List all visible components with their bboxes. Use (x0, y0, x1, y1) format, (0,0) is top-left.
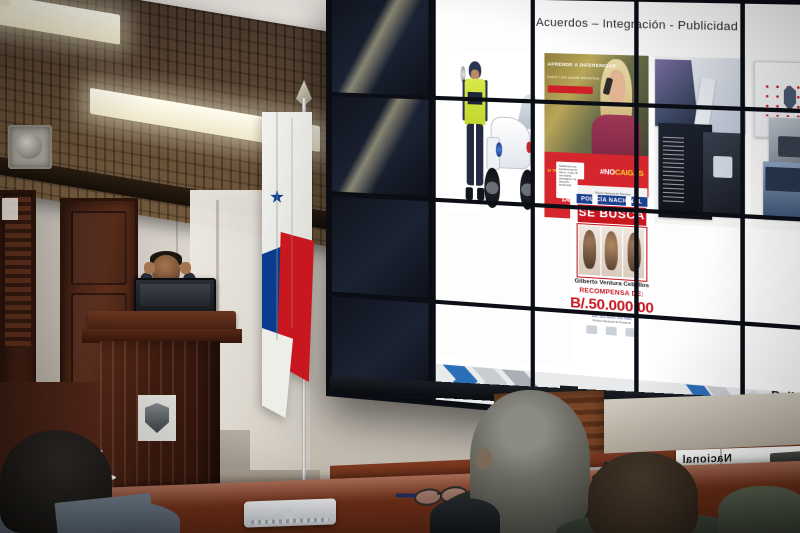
officer-boot-left (466, 187, 473, 200)
speaker-hand-left (144, 262, 155, 274)
video-panel-r2c1 (332, 96, 429, 197)
audience-head-5 (430, 498, 500, 533)
photo-scene: Acuerdos – Integración - Publicidad (0, 0, 800, 533)
vent-fan (16, 133, 42, 159)
nocaigas-headline: APRENDE A DIFERENCIAR (547, 61, 616, 68)
presentation-slide: Acuerdos – Integración - Publicidad (435, 0, 800, 436)
poster-photo-right-profile (623, 228, 644, 279)
motorcycle-blue-light (496, 142, 503, 156)
podium-crest-emblem (138, 395, 176, 441)
door-notice (2, 198, 18, 220)
audience-ear-1 (476, 448, 492, 470)
poster-photo-front (601, 227, 622, 278)
audience-head-3 (718, 486, 800, 533)
eyeglasses-temple-arm (396, 493, 416, 497)
poster-wanted-text: SE BUSCA (579, 207, 645, 223)
flag-fold-2 (291, 118, 293, 328)
police-motorcycle (482, 90, 536, 210)
flag-fold-1 (276, 112, 278, 340)
audience-head-2 (588, 452, 698, 533)
poster-logo-3 (626, 328, 637, 337)
nocaigas-red-underline (547, 85, 593, 95)
video-wall-display[interactable]: Acuerdos – Integración - Publicidad (326, 0, 800, 443)
video-panel-r3c1 (332, 195, 429, 297)
door-panel-top (71, 211, 127, 285)
poster-logo-row (582, 325, 641, 338)
poster-photo-row (576, 223, 647, 282)
collage-formation-photo (763, 161, 800, 223)
poster-photo-left-profile (579, 226, 600, 276)
poster-logo-2 (606, 326, 617, 335)
video-panel-r1c1 (332, 0, 429, 95)
wall-vent-icon (8, 125, 52, 169)
nocaigas-hashtag-accent: CAIGAS (615, 169, 644, 178)
shield-icon (145, 403, 169, 433)
nocaigas-hashtag: #NOCAIGAS (600, 168, 644, 177)
collage-photo-3 (703, 131, 744, 217)
slide-media-collage (751, 59, 800, 233)
motorcycle-front-wheel (520, 169, 535, 210)
nocaigas-subhead: sobre una estafa telefónica (547, 74, 599, 81)
flag-white-bottom (262, 328, 293, 418)
poster-logo-1 (587, 325, 598, 334)
speaker-hand-right (180, 262, 191, 274)
slide-officer-motorcycle-image (446, 51, 539, 217)
panama-flag (262, 112, 312, 412)
nocaigas-woman-body (592, 114, 640, 159)
laptop-logo-icon (284, 508, 294, 519)
slide-press-collage (654, 56, 746, 228)
motorcycle-red-light (527, 141, 532, 153)
eyeglasses-bridge (437, 492, 442, 494)
wanted-poster: POLICÍA NACIONAL SE BUSCA Gilberto Ventu… (570, 194, 654, 382)
slide-title: Acuerdos – Integración - Publicidad (435, 14, 800, 36)
motorcycle-rear-wheel (485, 167, 500, 207)
laptop[interactable] (244, 498, 336, 527)
nocaigas-hashtag-plain: #NO (600, 168, 615, 176)
nocaigas-photo: APRENDE A DIFERENCIAR sobre una estafa t… (544, 53, 648, 159)
